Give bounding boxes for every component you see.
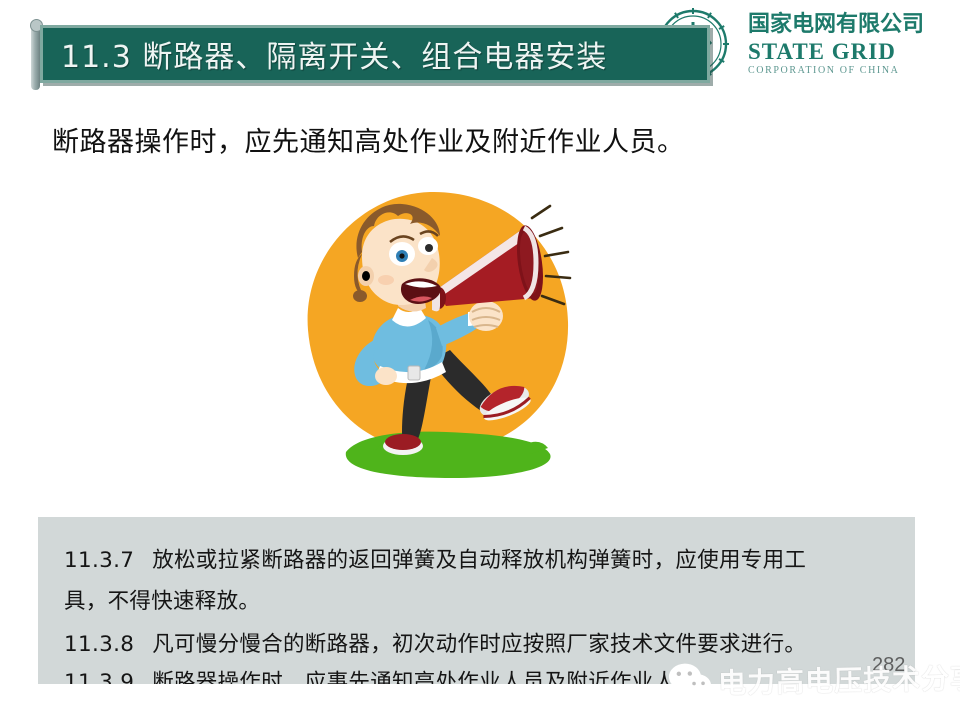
note-number: 11.3.8 — [64, 632, 134, 657]
brand-english-name: STATE GRID — [748, 40, 948, 63]
section-title-text: 11.3 断路器、隔离开关、组合电器安装 — [43, 32, 607, 76]
brand-english-subtitle: CORPORATION OF CHINA — [748, 66, 948, 76]
note-number: 11.3.7 — [64, 548, 134, 573]
note-item-11-3-7: 11.3.7放松或拉紧断路器的返回弹簧及自动释放机构弹簧时，应使用专用工 — [64, 543, 806, 574]
regulation-note-box: 11.3.7放松或拉紧断路器的返回弹簧及自动释放机构弹簧时，应使用专用工 具，不… — [38, 517, 915, 684]
note-text: 放松或拉紧断路器的返回弹簧及自动释放机构弹簧时，应使用专用工 — [152, 548, 806, 573]
page-number: 282 — [872, 654, 905, 677]
slide-header: 11.3 断路器、隔离开关、组合电器安装 国家电网有限公司 STATE GRID… — [0, 0, 960, 100]
note-item-11-3-8: 11.3.8凡可慢分慢合的断路器，初次动作时应按照厂家技术文件要求进行。 — [64, 627, 806, 658]
brand-lockup: 国家电网有限公司 STATE GRID CORPORATION OF CHINA — [748, 14, 948, 76]
note-text: 断路器操作时，应事先通知高处作业人员及附近作业人员。 — [152, 670, 719, 684]
brand-chinese-name: 国家电网有限公司 — [748, 14, 948, 36]
note-item-11-3-9: 11.3.9断路器操作时，应事先通知高处作业人员及附近作业人员。 — [64, 665, 719, 684]
megaphone-illustration — [250, 180, 590, 500]
lead-statement: 断路器操作时，应先通知高处作业及附近作业人员。 — [52, 120, 912, 159]
title-pole-decoration — [31, 22, 40, 90]
slide-canvas: 11.3 断路器、隔离开关、组合电器安装 国家电网有限公司 STATE GRID… — [0, 0, 960, 720]
note-number: 11.3.9 — [64, 670, 134, 684]
note-item-11-3-7-continued: 具，不得快速释放。 — [64, 584, 260, 615]
note-text: 凡可慢分慢合的断路器，初次动作时应按照厂家技术文件要求进行。 — [152, 632, 806, 657]
section-title-plate: 11.3 断路器、隔离开关、组合电器安装 — [40, 25, 710, 83]
